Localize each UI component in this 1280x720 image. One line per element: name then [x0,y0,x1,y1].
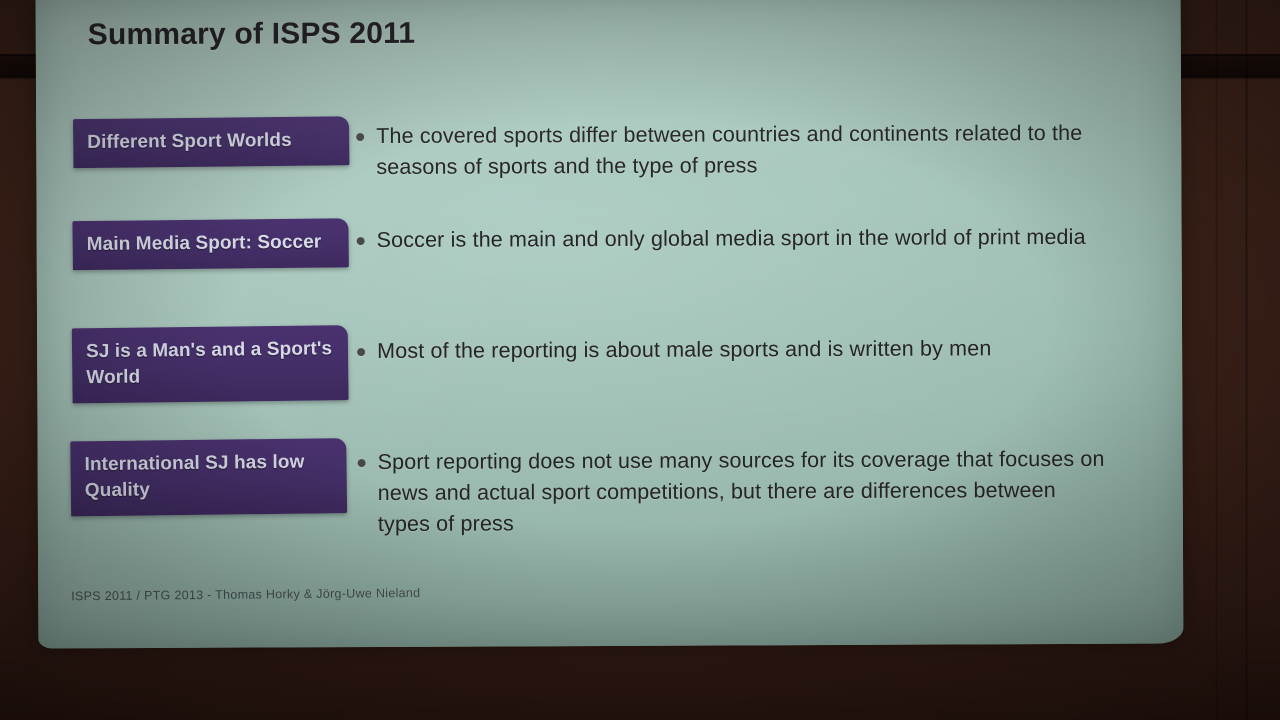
bullet-text: Soccer is the main and only global media… [377,222,1086,256]
list-item: Most of the reporting is about male spor… [357,333,1146,368]
summary-row: Different Sport Worlds The covered sport… [36,114,1181,119]
slide-footer: ISPS 2011 / PTG 2013 - Thomas Horky & Jö… [71,586,420,603]
summary-label-different-sport-worlds: Different Sport Worlds [73,116,349,168]
wall-seam-right-2 [1215,0,1218,720]
summary-row: Main Media Sport: Soccer Soccer is the m… [37,216,1182,221]
presentation-screen: Summary of ISPS 2011 Different Sport Wor… [36,0,1184,648]
bullet-text: The covered sports differ between countr… [376,118,1106,184]
slide-content: Summary of ISPS 2011 Different Sport Wor… [36,0,1184,648]
bullet-dot-icon [358,459,366,467]
list-item: Soccer is the main and only global media… [357,222,1146,257]
projected-slide-photo: Summary of ISPS 2011 Different Sport Wor… [0,0,1280,720]
bullet-dot-icon [357,348,365,356]
summary-label-sj-is-a-mans-and-a-sports-world: SJ is a Man's and a Sport's World [72,325,349,403]
list-item: Sport reporting does not use many source… [358,444,1147,541]
bullet-text: Most of the reporting is about male spor… [377,333,991,367]
list-item: The covered sports differ between countr… [356,118,1145,184]
page-title: Summary of ISPS 2011 [88,17,416,52]
summary-label-international-sj-has-low-quality: International SJ has low Quality [70,438,347,516]
bullet-text: Sport reporting does not use many source… [378,444,1108,541]
summary-label-main-media-sport-soccer: Main Media Sport: Soccer [72,218,348,270]
summary-row: International SJ has low Quality Sport r… [38,436,1183,441]
bullet-dot-icon [356,133,364,141]
wall-seam-right [1245,0,1248,720]
bullet-dot-icon [357,237,365,245]
summary-row: SJ is a Man's and a Sport's World Most o… [37,323,1182,328]
